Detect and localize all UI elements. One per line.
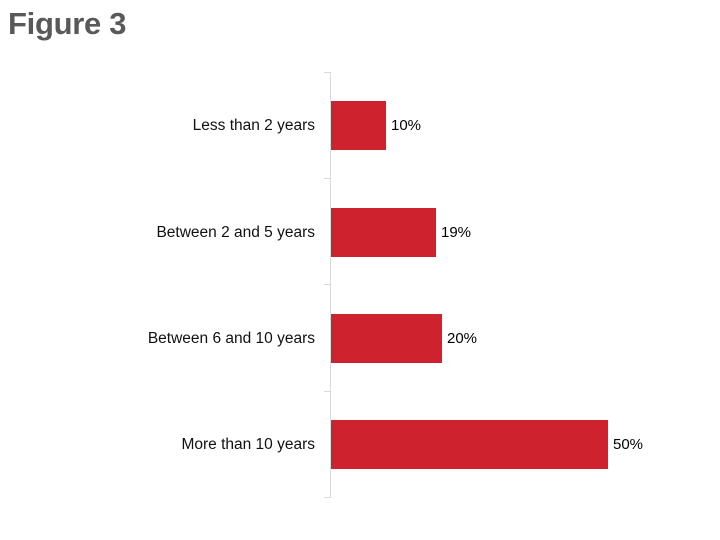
- bar[interactable]: [331, 208, 436, 257]
- category-label: Between 6 and 10 years: [0, 314, 315, 363]
- bar[interactable]: [331, 314, 442, 363]
- axis-tick: [324, 391, 330, 392]
- axis-tick: [324, 284, 330, 285]
- axis-tick: [324, 72, 330, 73]
- bar-value-label: 50%: [608, 420, 643, 469]
- bar-value-label: 10%: [386, 101, 421, 150]
- category-label: More than 10 years: [0, 420, 315, 469]
- category-label: Between 2 and 5 years: [0, 208, 315, 257]
- bar[interactable]: [331, 420, 608, 469]
- axis-tick: [324, 178, 330, 179]
- category-label: Less than 2 years: [0, 101, 315, 150]
- bar-value-label: 20%: [442, 314, 477, 363]
- bar-value-label: 19%: [436, 208, 471, 257]
- bar-chart: Less than 2 years 10% Between 2 and 5 ye…: [0, 0, 720, 540]
- axis-tick: [324, 497, 330, 498]
- bar[interactable]: [331, 101, 386, 150]
